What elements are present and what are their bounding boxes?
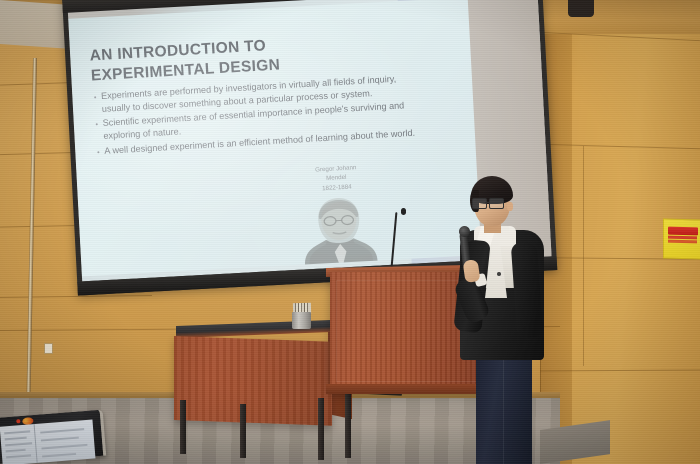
presenter — [452, 176, 552, 464]
laptop-screen — [0, 419, 95, 464]
gooseneck-microphone-head — [401, 208, 406, 215]
eyeglasses-icon — [472, 198, 508, 207]
desk-leg — [345, 392, 351, 458]
laptop-sticker-dot-icon — [16, 419, 20, 423]
desk-leg — [180, 400, 186, 454]
laptop-text-line — [4, 430, 30, 434]
desk-leg — [240, 404, 246, 458]
laptop — [0, 410, 107, 464]
eyeglass-lens-left — [472, 198, 487, 209]
laptop-lid — [0, 410, 106, 464]
laptop-screen-divider — [34, 424, 38, 463]
laptop-text-line — [41, 437, 79, 442]
ceiling-fixture — [568, 0, 594, 17]
eyeglass-lens-right — [489, 198, 504, 209]
laptop-text-line — [42, 453, 76, 457]
lecture-hall-photo: AN INTRODUCTION TO EXPERIMENTAL DESIGN E… — [0, 0, 700, 464]
desk-leg — [318, 398, 324, 460]
laptop-text-line — [6, 449, 26, 452]
marker-cup — [292, 312, 311, 329]
slide-body: Experiments are performed by investigato… — [94, 71, 427, 159]
cardigan-button — [497, 272, 501, 276]
laptop-text-line — [6, 454, 31, 458]
desk-front-panel — [174, 336, 332, 426]
laptop-text-line — [5, 437, 27, 440]
notice-sign-header — [664, 220, 700, 226]
laptop-text-line — [41, 444, 87, 449]
mendel-portrait-image — [298, 190, 380, 272]
laptop-text-line — [40, 428, 84, 433]
desk-wood-grain — [174, 336, 332, 426]
laptop-text-line — [5, 442, 32, 446]
presentation-slide: AN INTRODUCTION TO EXPERIMENTAL DESIGN E… — [68, 0, 481, 276]
notice-sign-text-line — [668, 240, 697, 244]
trouser-seam — [503, 356, 504, 464]
notice-sign-headline — [668, 227, 698, 236]
wall-outlet — [44, 343, 53, 354]
yellow-notice-sign — [663, 218, 700, 259]
wall-seam-vertical — [583, 146, 584, 366]
